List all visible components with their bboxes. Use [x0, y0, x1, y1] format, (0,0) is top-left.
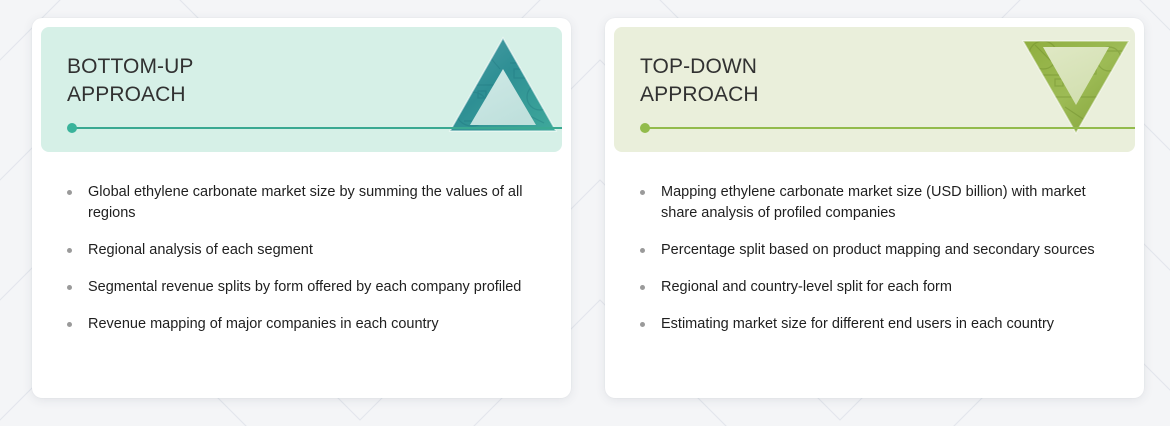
list-item-text: Estimating market size for different end…: [661, 316, 1054, 332]
list-item: Mapping ethylene carbonate market size (…: [629, 182, 1114, 224]
accent-line: [645, 127, 1135, 129]
triangle-down-icon: [1021, 35, 1131, 135]
card-top-down: TOP-DOWN APPROACH Mapping ethylene carbo…: [605, 18, 1144, 398]
list-item: Global ethylene carbonate market size by…: [56, 182, 541, 224]
accent-dot: [640, 123, 650, 133]
list-item-text: Global ethylene carbonate market size by…: [88, 184, 522, 221]
list-item-text: Mapping ethylene carbonate market size (…: [661, 184, 1086, 221]
card-bottom-up: BOTTOM-UP APPROACH Global ethylene carbo…: [32, 18, 571, 398]
approach-comparison-board: BOTTOM-UP APPROACH Global ethylene carbo…: [0, 0, 1170, 426]
list-item: Percentage split based on product mappin…: [629, 240, 1114, 261]
bullet-dot-icon: [640, 285, 645, 290]
card-body-bottom-up: Global ethylene carbonate market size by…: [32, 152, 571, 398]
bullet-dot-icon: [67, 285, 72, 290]
bullet-dot-icon: [640, 190, 645, 195]
accent-dot: [67, 123, 77, 133]
bullet-dot-icon: [67, 322, 72, 327]
accent-line: [72, 127, 562, 129]
list-item: Regional and country-level split for eac…: [629, 277, 1114, 298]
list-item: Segmental revenue splits by form offered…: [56, 277, 541, 298]
list-item-text: Revenue mapping of major companies in ea…: [88, 316, 439, 332]
bullet-list-bottom-up: Global ethylene carbonate market size by…: [56, 182, 541, 335]
list-item-text: Regional analysis of each segment: [88, 242, 313, 258]
list-item-text: Segmental revenue splits by form offered…: [88, 279, 521, 295]
card-title-bottom-up: BOTTOM-UP APPROACH: [67, 53, 194, 109]
header-accent-rule: [67, 123, 562, 133]
bullet-list-top-down: Mapping ethylene carbonate market size (…: [629, 182, 1114, 335]
bullet-dot-icon: [67, 190, 72, 195]
list-item: Estimating market size for different end…: [629, 314, 1114, 335]
list-item: Revenue mapping of major companies in ea…: [56, 314, 541, 335]
header-accent-rule: [640, 123, 1135, 133]
bullet-dot-icon: [640, 322, 645, 327]
card-title-top-down: TOP-DOWN APPROACH: [640, 53, 759, 109]
card-body-top-down: Mapping ethylene carbonate market size (…: [605, 152, 1144, 398]
list-item: Regional analysis of each segment: [56, 240, 541, 261]
list-item-text: Regional and country-level split for eac…: [661, 279, 952, 295]
card-header-top-down: TOP-DOWN APPROACH: [614, 27, 1135, 152]
card-header-bottom-up: BOTTOM-UP APPROACH: [41, 27, 562, 152]
list-item-text: Percentage split based on product mappin…: [661, 242, 1095, 258]
bullet-dot-icon: [67, 248, 72, 253]
triangle-up-icon: [448, 35, 558, 135]
bullet-dot-icon: [640, 248, 645, 253]
